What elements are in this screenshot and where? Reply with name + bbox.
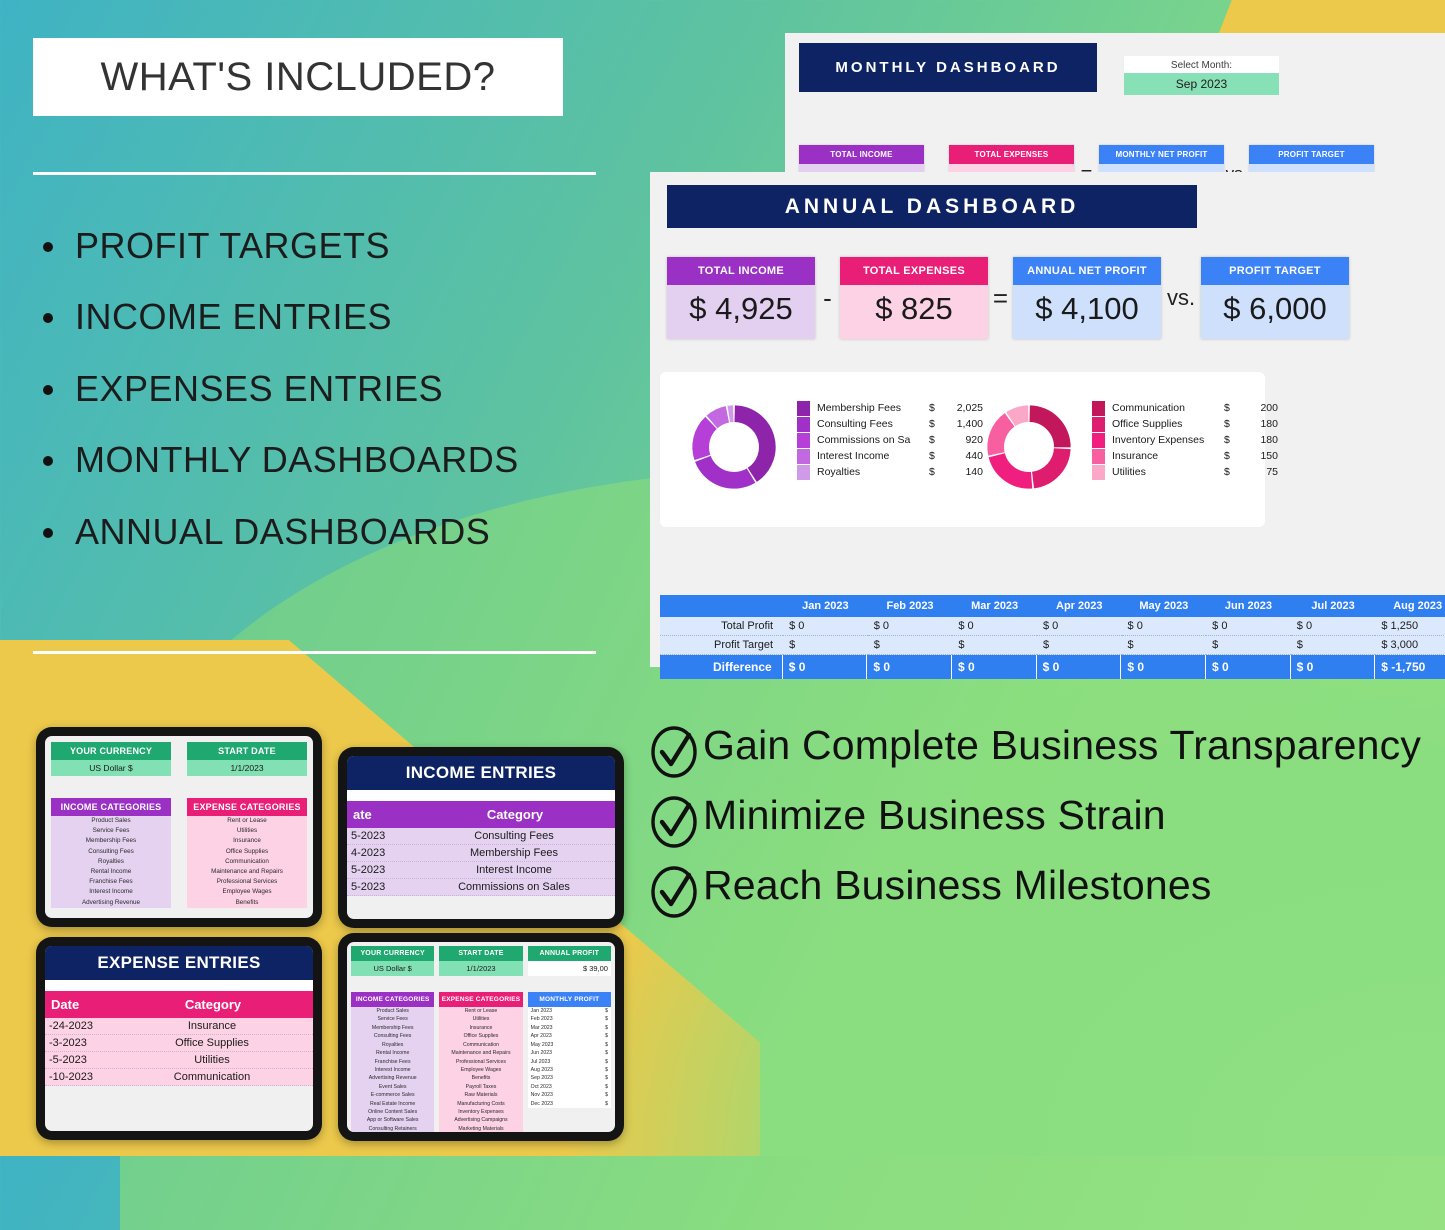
table-cell: $ 3,000 xyxy=(1375,636,1445,655)
legend-value: 180 xyxy=(1240,434,1278,446)
legend-currency: $ xyxy=(929,434,945,446)
table-cell: $ 0 xyxy=(1037,617,1122,636)
legend-swatch xyxy=(1092,417,1105,432)
cell-date: -10-2023 xyxy=(45,1069,111,1085)
cell-category: Commissions on Sales xyxy=(413,879,615,895)
list-item: Consulting Fees xyxy=(351,1032,434,1040)
legend-value: 150 xyxy=(1240,450,1278,462)
legend-value: 1,400 xyxy=(945,418,983,430)
divider-top xyxy=(33,172,596,175)
row-label: Difference xyxy=(660,655,783,679)
legend-row: Utilities$75 xyxy=(1092,464,1278,480)
table-cell: $ 0 xyxy=(868,617,953,636)
column-header: Jan 2023 xyxy=(783,595,868,617)
list-item: Franchise Fees xyxy=(51,877,171,887)
list-item: ANNUAL DASHBOARDS xyxy=(33,511,633,552)
month-amount: $ xyxy=(605,1083,608,1091)
legend-swatch xyxy=(797,401,810,416)
income-entries-rows: 5-2023Consulting Fees4-2023Membership Fe… xyxy=(347,828,615,896)
list-item: Communication xyxy=(187,857,307,867)
list-item: Apr 2023$ xyxy=(528,1032,611,1040)
legend-swatch xyxy=(797,449,810,464)
legend-row: Consulting Fees$1,400 xyxy=(797,416,983,432)
start-date-value: 1/1/2023 xyxy=(439,961,522,976)
month-amount: $ xyxy=(605,1007,608,1015)
donut-segment xyxy=(701,423,711,458)
monthly-dashboard-title: MONTHLY DASHBOARD xyxy=(835,59,1060,76)
table-cell: $ xyxy=(1291,636,1376,655)
list-item: Aug 2023$ xyxy=(528,1066,611,1074)
table-cell: $ 0 xyxy=(1122,617,1207,636)
expense-entries-table-header: Date Category xyxy=(45,991,313,1018)
legend-label: Office Supplies xyxy=(1112,418,1224,430)
month-amount: $ xyxy=(605,1041,608,1049)
table-row: -10-2023Communication xyxy=(45,1069,313,1086)
list-item: Dec 2023$ xyxy=(528,1100,611,1108)
list-item: Product Sales xyxy=(51,816,171,826)
legend-label: Royalties xyxy=(817,466,929,478)
column-header-date: ate xyxy=(347,801,415,828)
table-row: -24-2023Insurance xyxy=(45,1018,313,1035)
table-row: Profit Target$$$$$$$$ 3,000 xyxy=(660,636,1445,655)
month-label: Jul 2023 xyxy=(531,1058,551,1066)
cell-date: 4-2023 xyxy=(347,845,413,861)
annual-net-profit-label: ANNUAL NET PROFIT xyxy=(1013,257,1161,285)
table-row: 5-2023Commissions on Sales xyxy=(347,879,615,896)
column-header: Mar 2023 xyxy=(952,595,1037,617)
list-item: Professional Services xyxy=(439,1058,522,1066)
legend-currency: $ xyxy=(1224,450,1240,462)
expense-entries-rows: -24-2023Insurance-3-2023Office Supplies-… xyxy=(45,1018,313,1086)
expense-categories-label: EXPENSE CATEGORIES xyxy=(439,992,522,1007)
legend-swatch xyxy=(1092,401,1105,416)
donut-segment xyxy=(1033,449,1062,480)
list-item: Membership Fees xyxy=(51,836,171,846)
table-cell: $ 0 xyxy=(783,617,868,636)
legend-swatch xyxy=(797,465,810,480)
donut-segment xyxy=(1011,414,1029,419)
list-item: May 2023$ xyxy=(528,1041,611,1049)
table-cell: $ xyxy=(1122,636,1207,655)
table-cell: $ xyxy=(1206,636,1291,655)
monthly-profit-label: MONTHLY PROFIT xyxy=(528,992,611,1007)
currency-label: YOUR CURRENCY xyxy=(51,742,171,760)
list-item: Advertising Revenue xyxy=(51,898,171,908)
monthly-total-income-label: TOTAL INCOME xyxy=(799,145,924,164)
legend-swatch xyxy=(1092,465,1105,480)
income-categories-list: Product SalesService FeesMembership Fees… xyxy=(51,816,171,908)
list-item: Online Content Sales xyxy=(351,1108,434,1116)
page-title: WHAT'S INCLUDED? xyxy=(101,55,496,100)
legend-value: 920 xyxy=(945,434,983,446)
list-item: Product Sales xyxy=(351,1007,434,1015)
list-item: Sep 2023$ xyxy=(528,1074,611,1082)
list-item: Office Supplies xyxy=(187,847,307,857)
select-month-widget[interactable]: Select Month: Sep 2023 xyxy=(1124,56,1279,95)
cell-date: -5-2023 xyxy=(45,1052,111,1068)
income-donut-chart xyxy=(685,392,783,502)
legend-value: 200 xyxy=(1240,402,1278,414)
income-chart-legend: Membership Fees$2,025Consulting Fees$1,4… xyxy=(797,400,983,480)
cell-date: -24-2023 xyxy=(45,1018,111,1034)
benefit-item: Minimize Business Strain xyxy=(645,792,1445,848)
annual-profit-target-value: $ 6,000 xyxy=(1201,285,1349,339)
annual-net-profit-value: $ 4,100 xyxy=(1013,285,1161,339)
benefit-item: Gain Complete Business Transparency xyxy=(645,722,1445,778)
donut-segment xyxy=(703,459,751,480)
list-item: Maintenance and Repairs xyxy=(439,1049,522,1057)
list-item: Rental Income xyxy=(51,867,171,877)
list-item: PROFIT TARGETS xyxy=(33,225,633,266)
legend-row: Membership Fees$2,025 xyxy=(797,400,983,416)
list-item: Real Estate Income xyxy=(351,1100,434,1108)
month-amount: $ xyxy=(605,1032,608,1040)
list-item: E-commerce Sales xyxy=(351,1091,434,1099)
list-item: Feb 2023$ xyxy=(528,1015,611,1023)
table-cell: $ -1,750 xyxy=(1375,655,1445,679)
list-item: Insurance xyxy=(439,1024,522,1032)
table-cell: $ xyxy=(952,636,1037,655)
annual-total-income-value: $ 4,925 xyxy=(667,285,815,339)
list-item: MONTHLY DASHBOARDS xyxy=(33,439,633,480)
start-date-value: 1/1/2023 xyxy=(187,760,307,776)
select-month-value[interactable]: Sep 2023 xyxy=(1124,73,1279,95)
list-item: Jan 2023$ xyxy=(528,1007,611,1015)
currency-value: US Dollar $ xyxy=(51,760,171,776)
table-cell: $ xyxy=(868,636,953,655)
list-item: Nov 2023$ xyxy=(528,1091,611,1099)
annual-profit-label: ANNUAL PROFIT xyxy=(528,946,611,961)
annual-total-expenses-value: $ 825 xyxy=(840,285,988,339)
cell-date: 5-2023 xyxy=(347,828,413,844)
legend-currency: $ xyxy=(1224,402,1240,414)
annual-dashboard-title: ANNUAL DASHBOARD xyxy=(785,195,1080,219)
legend-row: Commissions on Sa$920 xyxy=(797,432,983,448)
category-charts-panel: Membership Fees$2,025Consulting Fees$1,4… xyxy=(660,372,1265,527)
legend-value: 140 xyxy=(945,466,983,478)
donut-segment xyxy=(712,414,727,422)
list-item: Service Fees xyxy=(351,1015,434,1023)
column-header: May 2023 xyxy=(1122,595,1207,617)
table-body: Total Profit$ 0$ 0$ 0$ 0$ 0$ 0$ 0$ 1,250… xyxy=(660,617,1445,655)
annual-profit-target-label: PROFIT TARGET xyxy=(1201,257,1349,285)
month-label: Aug 2023 xyxy=(531,1066,553,1074)
list-item: Consulting Retainers xyxy=(351,1125,434,1132)
benefit-text: Reach Business Milestones xyxy=(703,862,1212,909)
cell-date: -3-2023 xyxy=(45,1035,111,1051)
legend-row: Inventory Expenses$180 xyxy=(1092,432,1278,448)
legend-currency: $ xyxy=(929,466,945,478)
legend-label: Interest Income xyxy=(817,450,929,462)
table-cell: $ 0 xyxy=(1291,655,1376,679)
cell-category: Interest Income xyxy=(413,862,615,878)
month-amount: $ xyxy=(605,1058,608,1066)
list-item: Maintenance and Repairs xyxy=(187,867,307,877)
cell-category: Office Supplies xyxy=(111,1035,313,1051)
operator-versus: vs. xyxy=(1161,257,1201,339)
table-cell: $ xyxy=(1037,636,1122,655)
list-item: Communication xyxy=(439,1041,522,1049)
list-item: Franchise Fees xyxy=(351,1058,434,1066)
cell-category: Insurance xyxy=(111,1018,313,1034)
table-cell: $ 0 xyxy=(952,617,1037,636)
list-item: Employee Wages xyxy=(187,887,307,897)
month-amount: $ xyxy=(605,1049,608,1057)
table-difference-row: Difference$ 0$ 0$ 0$ 0$ 0$ 0$ 0$ -1,750 xyxy=(660,655,1445,679)
month-label: May 2023 xyxy=(531,1041,554,1049)
annual-profit-value: $ 39,00 xyxy=(528,961,611,976)
table-row: 5-2023Consulting Fees xyxy=(347,828,615,845)
expense-chart-legend: Communication$200Office Supplies$180Inve… xyxy=(1092,400,1278,480)
month-label: Jun 2023 xyxy=(531,1049,552,1057)
month-label: Jan 2023 xyxy=(531,1007,552,1015)
donut-segment xyxy=(735,414,768,475)
legend-currency: $ xyxy=(929,450,945,462)
table-row: 5-2023Interest Income xyxy=(347,862,615,879)
legend-value: 75 xyxy=(1240,466,1278,478)
check-circle-icon xyxy=(645,792,703,848)
month-label: Oct 2023 xyxy=(531,1083,552,1091)
month-amount: $ xyxy=(605,1015,608,1023)
income-entries-tablet-mockup: INCOME ENTRIES ate Category 5-2023Consul… xyxy=(338,747,624,928)
list-item: Utilities xyxy=(187,826,307,836)
table-row: -5-2023Utilities xyxy=(45,1052,313,1069)
table-cell: $ 0 xyxy=(1206,617,1291,636)
column-header-category: Category xyxy=(113,991,313,1018)
expense-donut-chart xyxy=(980,392,1078,502)
expense-categories-list: Rent or LeaseUtilitiesInsuranceOffice Su… xyxy=(439,1007,522,1132)
annual-net-profit-card: ANNUAL NET PROFIT $ 4,100 xyxy=(1013,257,1161,339)
legend-currency: $ xyxy=(1224,418,1240,430)
divider-bottom xyxy=(33,651,596,654)
income-entries-table-header: ate Category xyxy=(347,801,615,828)
table-cell: $ 1,250 xyxy=(1375,617,1445,636)
operator-minus: - xyxy=(815,257,840,339)
list-item: Membership Fees xyxy=(351,1024,434,1032)
list-item: Service Fees xyxy=(51,826,171,836)
row-label: Profit Target xyxy=(660,636,783,655)
start-date-label: START DATE xyxy=(439,946,522,961)
column-header: Jun 2023 xyxy=(1206,595,1291,617)
list-item: Jun 2023$ xyxy=(528,1049,611,1057)
monthly-total-expenses-label: TOTAL EXPENSES xyxy=(949,145,1074,164)
list-item: Utilities xyxy=(439,1015,522,1023)
start-date-label: START DATE xyxy=(187,742,307,760)
month-label: Feb 2023 xyxy=(531,1015,553,1023)
table-row: -3-2023Office Supplies xyxy=(45,1035,313,1052)
cell-category: Consulting Fees xyxy=(413,828,615,844)
list-item: Interest Income xyxy=(351,1066,434,1074)
month-amount: $ xyxy=(605,1024,608,1032)
table-cell: $ 0 xyxy=(1206,655,1291,679)
list-item: EXPENSES ENTRIES xyxy=(33,368,633,409)
whats-included-panel: WHAT'S INCLUDED? PROFIT TARGETS INCOME E… xyxy=(0,0,640,700)
annual-kpi-row: TOTAL INCOME $ 4,925 - TOTAL EXPENSES $ … xyxy=(667,257,1349,339)
column-header-category: Category xyxy=(415,801,615,828)
list-item: Office Supplies xyxy=(439,1032,522,1040)
expense-donut-chart-group: Communication$200Office Supplies$180Inve… xyxy=(980,392,1278,502)
list-item: Oct 2023$ xyxy=(528,1083,611,1091)
month-amount: $ xyxy=(605,1091,608,1099)
expense-entries-tablet-mockup: EXPENSE ENTRIES Date Category -24-2023In… xyxy=(36,937,322,1140)
monthly-profit-list: Jan 2023$Feb 2023$Mar 2023$Apr 2023$May … xyxy=(528,1007,611,1108)
list-item: Insurance xyxy=(187,836,307,846)
included-features-list: PROFIT TARGETS INCOME ENTRIES EXPENSES E… xyxy=(33,225,633,582)
list-item: Event Sales xyxy=(351,1083,434,1091)
income-categories-label: INCOME CATEGORIES xyxy=(351,992,434,1007)
table-row: 4-2023Membership Fees xyxy=(347,845,615,862)
donut-segment xyxy=(1030,414,1063,448)
column-header: Apr 2023 xyxy=(1037,595,1122,617)
month-label: Apr 2023 xyxy=(531,1032,552,1040)
monthly-net-profit-label: MONTHLY NET PROFIT xyxy=(1099,145,1224,164)
income-donut-chart-group: Membership Fees$2,025Consulting Fees$1,4… xyxy=(685,392,983,502)
legend-swatch xyxy=(797,433,810,448)
operator-equals: = xyxy=(988,257,1013,339)
legend-label: Consulting Fees xyxy=(817,418,929,430)
cell-date: 5-2023 xyxy=(347,879,413,895)
currency-value: US Dollar $ xyxy=(351,961,434,976)
table-cell: $ 0 xyxy=(952,655,1037,679)
month-amount: $ xyxy=(605,1066,608,1074)
monthly-profit-table: Jan 2023Feb 2023Mar 2023Apr 2023May 2023… xyxy=(660,595,1445,679)
list-item: Employee Wages xyxy=(439,1066,522,1074)
legend-currency: $ xyxy=(1224,466,1240,478)
legend-row: Office Supplies$180 xyxy=(1092,416,1278,432)
legend-swatch xyxy=(1092,449,1105,464)
income-categories-list: Product SalesService FeesMembership Fees… xyxy=(351,1007,434,1132)
expense-entries-title: EXPENSE ENTRIES xyxy=(45,946,313,980)
list-item: Jul 2023$ xyxy=(528,1058,611,1066)
income-categories-label: INCOME CATEGORIES xyxy=(51,798,171,816)
month-label: Nov 2023 xyxy=(531,1091,553,1099)
annual-total-expenses-label: TOTAL EXPENSES xyxy=(840,257,988,285)
legend-value: 180 xyxy=(1240,418,1278,430)
legend-label: Membership Fees xyxy=(817,402,929,414)
expense-categories-label: EXPENSE CATEGORIES xyxy=(187,798,307,816)
table-header-row: Jan 2023Feb 2023Mar 2023Apr 2023May 2023… xyxy=(660,595,1445,617)
check-circle-icon xyxy=(645,862,703,918)
legend-row: Communication$200 xyxy=(1092,400,1278,416)
annual-total-income-label: TOTAL INCOME xyxy=(667,257,815,285)
list-item: Royalties xyxy=(351,1041,434,1049)
benefit-text: Minimize Business Strain xyxy=(703,792,1166,839)
cell-date: 5-2023 xyxy=(347,862,413,878)
setup-tablet-mockup: YOUR CURRENCY US Dollar $ START DATE 1/1… xyxy=(36,727,322,927)
list-item: INCOME ENTRIES xyxy=(33,296,633,337)
legend-label: Inventory Expenses xyxy=(1112,434,1224,446)
table-cell: $ 0 xyxy=(867,655,952,679)
legend-row: Insurance$150 xyxy=(1092,448,1278,464)
monthly-dashboard-card: MONTHLY DASHBOARD TOTAL INCOME $ 3,525 -… xyxy=(785,33,1445,181)
legend-swatch xyxy=(797,417,810,432)
cell-category: Communication xyxy=(111,1069,313,1085)
legend-currency: $ xyxy=(929,402,945,414)
annual-total-income-card: TOTAL INCOME $ 4,925 xyxy=(667,257,815,339)
monthly-profit-target-label: PROFIT TARGET xyxy=(1249,145,1374,164)
cell-category: Membership Fees xyxy=(413,845,615,861)
list-item: Benefits xyxy=(439,1074,522,1082)
table-cell: $ xyxy=(783,636,868,655)
legend-swatch xyxy=(1092,433,1105,448)
table-cell: $ 0 xyxy=(783,655,868,679)
list-item: Rent or Lease xyxy=(439,1007,522,1015)
select-month-label: Select Month: xyxy=(1124,56,1279,73)
cell-category: Utilities xyxy=(111,1052,313,1068)
column-header: Jul 2023 xyxy=(1291,595,1376,617)
table-cell: $ 0 xyxy=(1121,655,1206,679)
list-item: Inventory Expenses xyxy=(439,1108,522,1116)
list-item: Payroll Taxes xyxy=(439,1083,522,1091)
list-item: Consulting Fees xyxy=(51,847,171,857)
legend-label: Utilities xyxy=(1112,466,1224,478)
benefit-text: Gain Complete Business Transparency xyxy=(703,722,1421,769)
column-header-date: Date xyxy=(45,991,113,1018)
list-item: Advertising Campaigns xyxy=(439,1116,522,1124)
currency-label: YOUR CURRENCY xyxy=(351,946,434,961)
column-header: Feb 2023 xyxy=(868,595,953,617)
legend-currency: $ xyxy=(929,418,945,430)
month-label: Sep 2023 xyxy=(531,1074,553,1082)
benefits-list: Gain Complete Business Transparency Mini… xyxy=(645,722,1445,932)
page-title-box: WHAT'S INCLUDED? xyxy=(33,38,563,116)
list-item: Mar 2023$ xyxy=(528,1024,611,1032)
table-cell: $ 0 xyxy=(1291,617,1376,636)
month-label: Dec 2023 xyxy=(531,1100,553,1108)
list-item: Professional Services xyxy=(187,877,307,887)
month-amount: $ xyxy=(605,1074,608,1082)
benefit-item: Reach Business Milestones xyxy=(645,862,1445,918)
annual-profit-target-card: PROFIT TARGET $ 6,000 xyxy=(1201,257,1349,339)
legend-currency: $ xyxy=(1224,434,1240,446)
row-label: Total Profit xyxy=(660,617,783,636)
month-label: Mar 2023 xyxy=(531,1024,553,1032)
legend-label: Communication xyxy=(1112,402,1224,414)
list-item: Rental Income xyxy=(351,1049,434,1057)
expense-categories-list: Rent or LeaseUtilitiesInsuranceOffice Su… xyxy=(187,816,307,908)
legend-label: Commissions on Sa xyxy=(817,434,929,446)
month-amount: $ xyxy=(605,1100,608,1108)
legend-row: Interest Income$440 xyxy=(797,448,983,464)
list-item: Raw Materials xyxy=(439,1091,522,1099)
list-item: Marketing Materials xyxy=(439,1125,522,1132)
overview-tablet-mockup: YOUR CURRENCY US Dollar $ START DATE 1/1… xyxy=(338,933,624,1141)
check-circle-icon xyxy=(645,722,703,778)
list-item: Rent or Lease xyxy=(187,816,307,826)
annual-total-expenses-card: TOTAL EXPENSES $ 825 xyxy=(840,257,988,339)
legend-row: Royalties$140 xyxy=(797,464,983,480)
legend-label: Insurance xyxy=(1112,450,1224,462)
column-header: Aug 2023 xyxy=(1375,595,1445,617)
table-corner-cell xyxy=(660,595,783,617)
legend-value: 2,025 xyxy=(945,402,983,414)
income-entries-title: INCOME ENTRIES xyxy=(347,756,615,790)
annual-dashboard-title-bar: ANNUAL DASHBOARD xyxy=(667,185,1197,228)
donut-segment xyxy=(997,455,1032,480)
list-item: Interest Income xyxy=(51,887,171,897)
list-item: Advertising Revenue xyxy=(351,1074,434,1082)
list-item: App or Software Sales xyxy=(351,1116,434,1124)
list-item: Manufacturing Costs xyxy=(439,1100,522,1108)
donut-segment xyxy=(996,420,1010,454)
list-item: Royalties xyxy=(51,857,171,867)
table-cell: $ 0 xyxy=(1037,655,1122,679)
list-item: Benefits xyxy=(187,898,307,908)
legend-value: 440 xyxy=(945,450,983,462)
table-row: Total Profit$ 0$ 0$ 0$ 0$ 0$ 0$ 0$ 1,250 xyxy=(660,617,1445,636)
monthly-dashboard-title-bar: MONTHLY DASHBOARD xyxy=(799,43,1097,92)
